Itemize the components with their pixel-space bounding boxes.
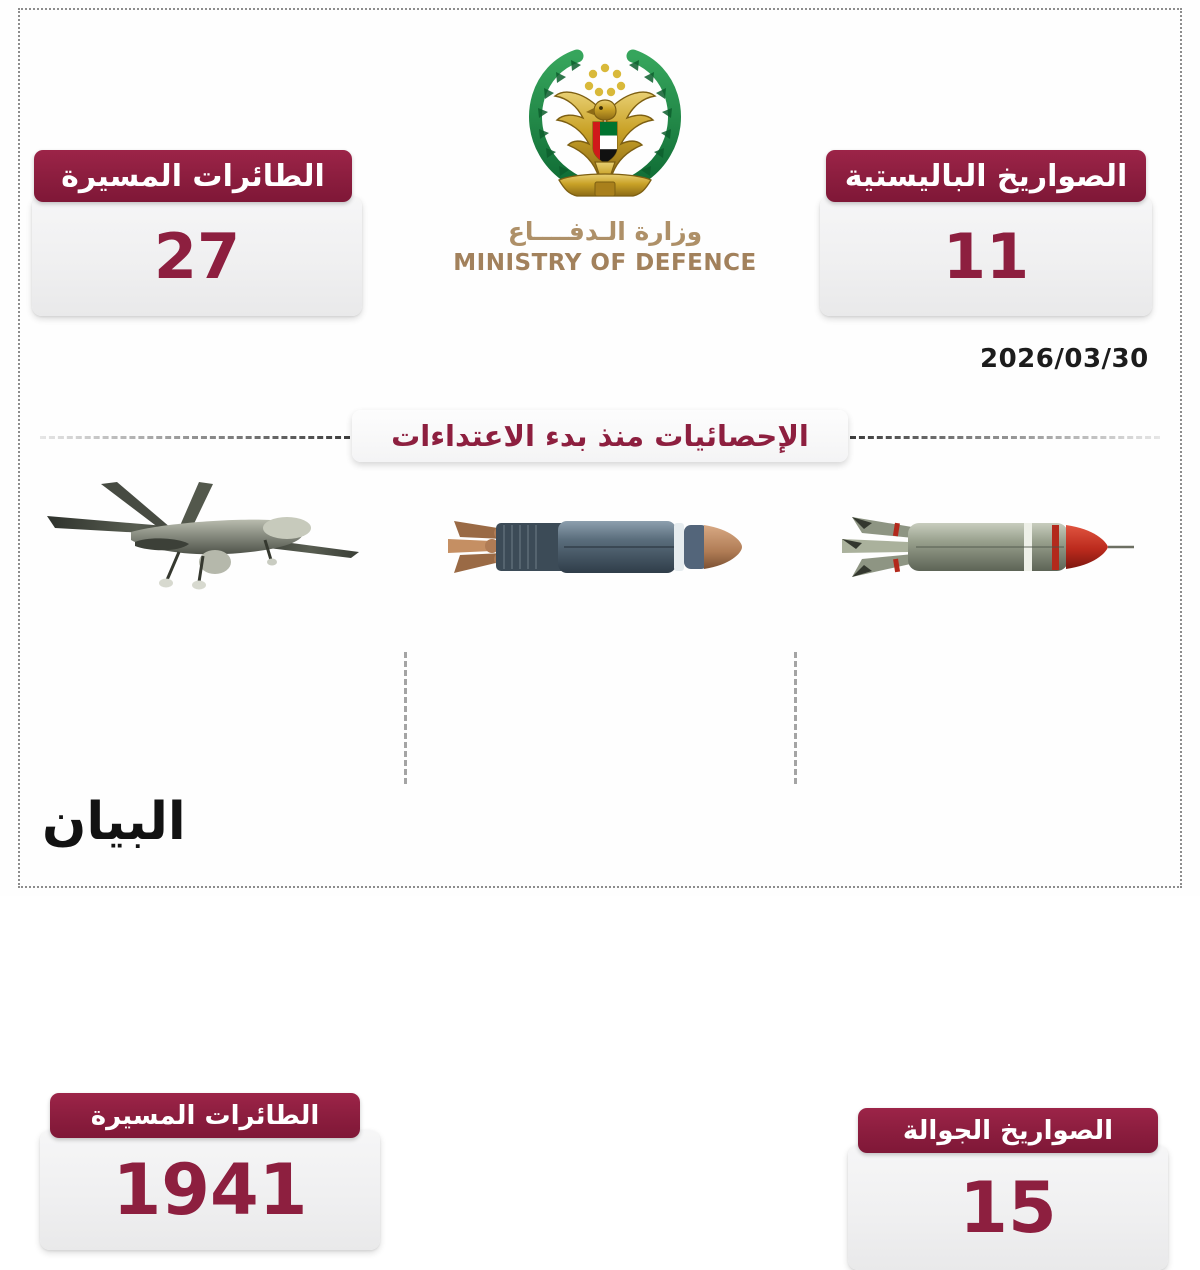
stat-card-drones-total-value: 1941 [40, 1130, 380, 1250]
stat-card-drones-today: الطائرات المسيرة 27 [32, 150, 362, 316]
al-bayan-logo: البيان [42, 792, 186, 852]
stat-card-cruise-total-label: الصواريخ الجوالة [858, 1108, 1158, 1153]
stat-card-drones-today-value: 27 [32, 196, 362, 316]
ballistic-missile-icon [812, 495, 1164, 615]
stat-card-drones-today-label: الطائرات المسيرة [34, 150, 352, 202]
drone-icon [28, 480, 380, 600]
uae-ministry-of-defence-emblem-icon [445, 40, 765, 215]
banner-divider-left [40, 436, 350, 439]
stat-card-ballistic-today: الصواريخ الباليستية 11 [820, 150, 1152, 316]
ministry-title-english: MINISTRY OF DEFENCE [445, 250, 765, 276]
section-banner-title: الإحصائيات منذ بدء الاعتداءات [352, 410, 848, 462]
stat-card-cruise-total-value: 15 [848, 1145, 1168, 1270]
ministry-title-arabic: وزارة الـدفــــاع [445, 217, 765, 246]
stat-card-drones-total-label: الطائرات المسيرة [50, 1093, 360, 1138]
cruise-missile-icon [420, 495, 772, 615]
banner-divider-right [850, 436, 1160, 439]
report-date: 2026/03/30 [980, 344, 1149, 374]
column-divider-2 [794, 652, 797, 784]
stat-card-ballistic-today-value: 11 [820, 196, 1152, 316]
infographic-root: الطائرات المسيرة 27 الصواريخ الباليستية … [0, 0, 1200, 896]
stat-card-ballistic-today-label: الصواريخ الباليستية [826, 150, 1146, 202]
column-divider-1 [404, 652, 407, 784]
ministry-emblem-block: وزارة الـدفــــاع MINISTRY OF DEFENCE [445, 40, 765, 305]
